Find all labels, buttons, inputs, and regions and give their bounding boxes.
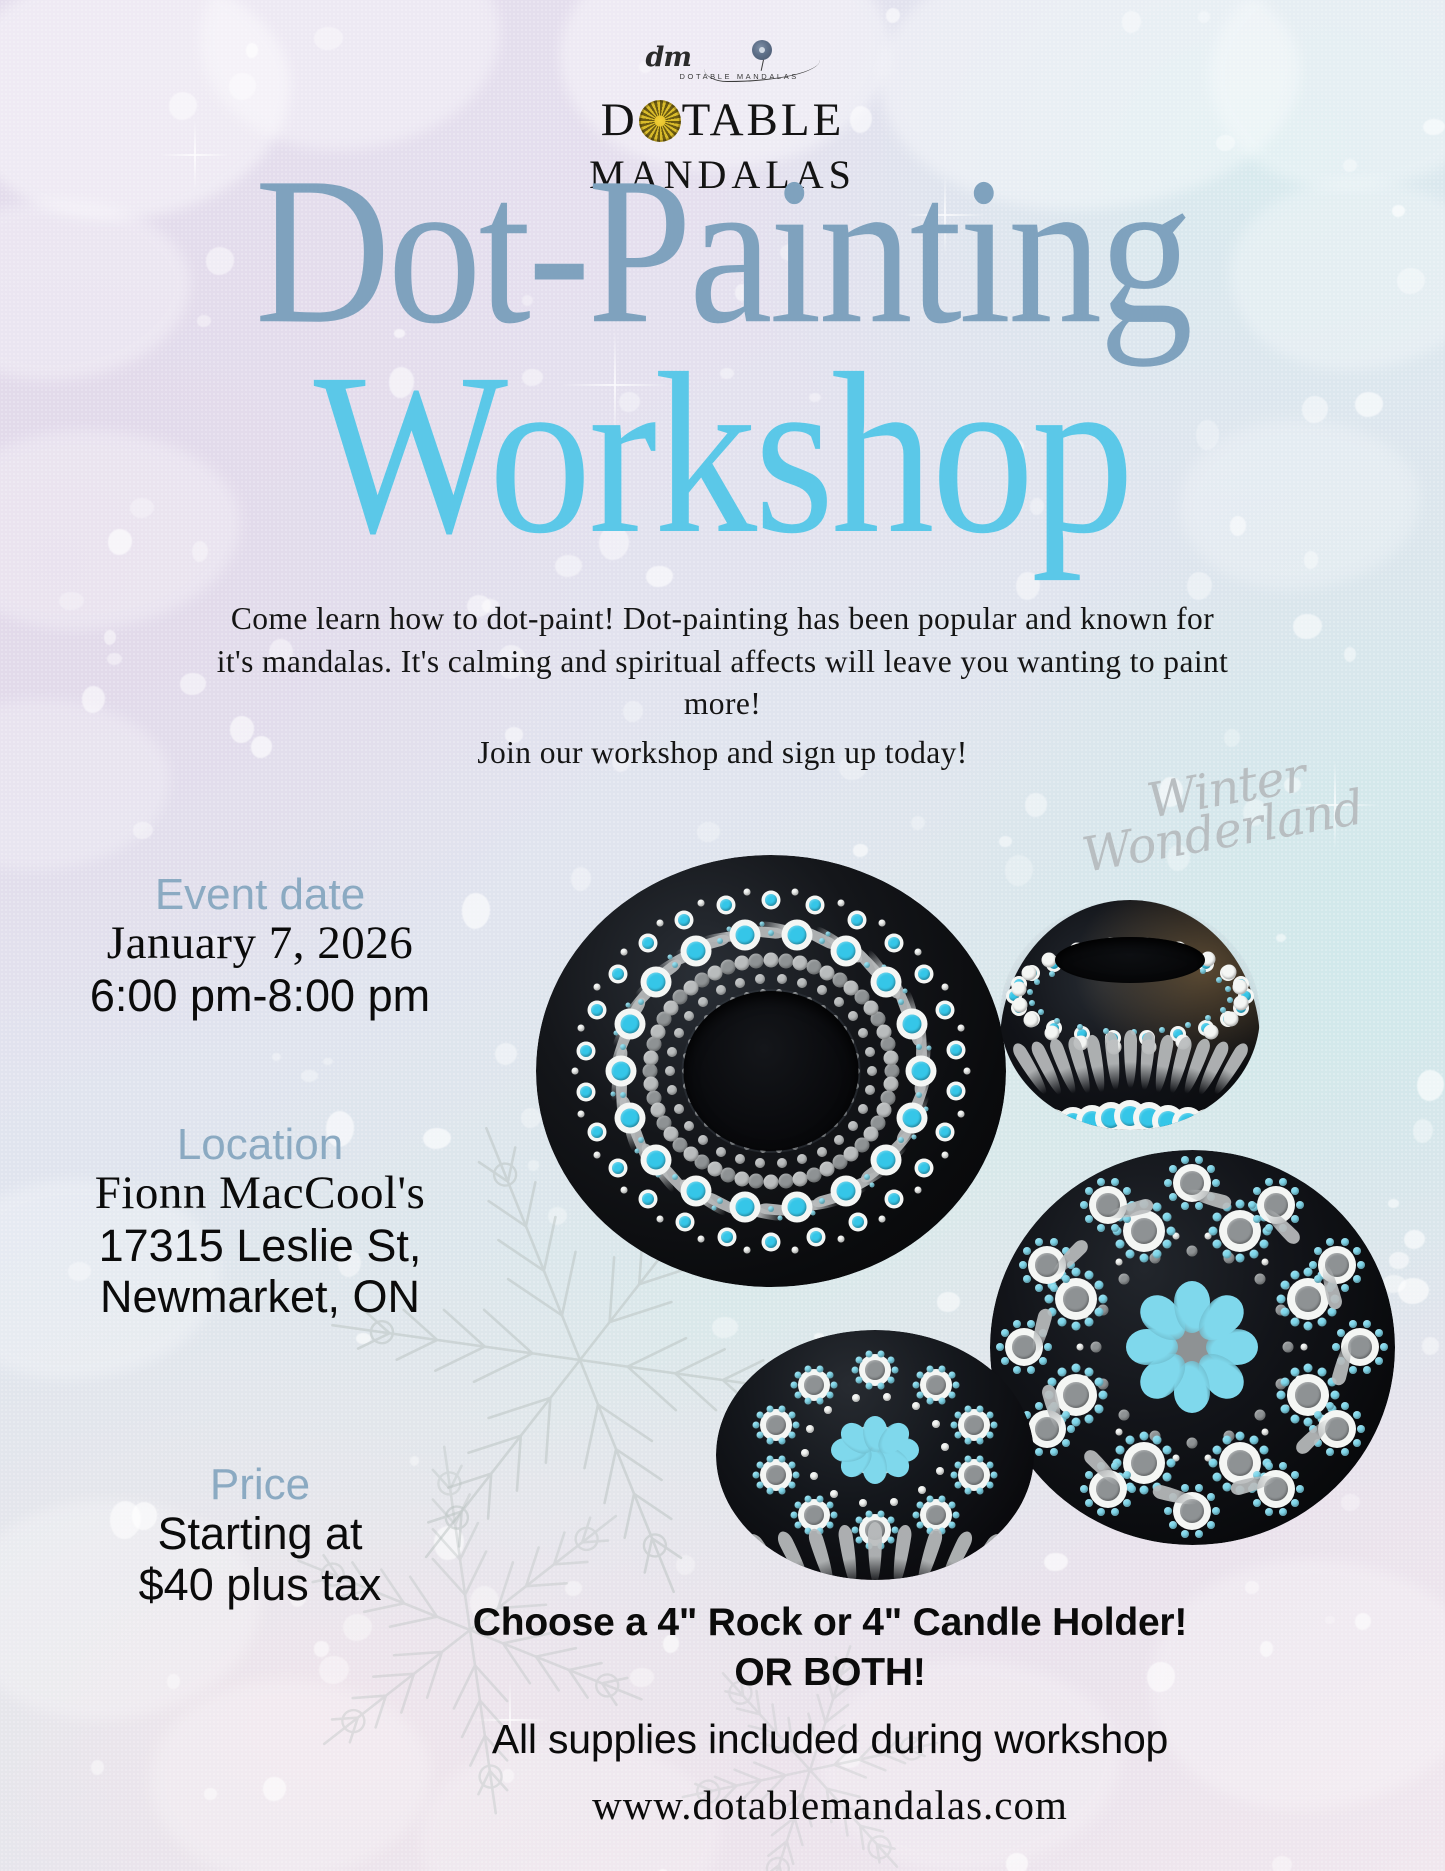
- paint-dot: [1304, 1321, 1313, 1330]
- paint-dot: [916, 1372, 923, 1379]
- paint-dot: [810, 1231, 822, 1243]
- paint-dot: [954, 1432, 961, 1439]
- paint-dot: [817, 1495, 824, 1502]
- paint-dot: [1035, 1448, 1043, 1456]
- paint-dot: [756, 1432, 763, 1439]
- snow-fleck: [1293, 614, 1321, 640]
- paint-dot: [804, 1495, 811, 1502]
- supplies-note: All supplies included during workshop: [330, 1716, 1330, 1763]
- paint-dot: [790, 1511, 797, 1518]
- paint-dot: [926, 1495, 933, 1502]
- paint-dot: [721, 960, 736, 975]
- paint-dot: [898, 999, 904, 1005]
- paint-dot: [883, 1393, 891, 1401]
- paint-dot: [827, 1372, 834, 1379]
- paint-dot: [1166, 1226, 1175, 1235]
- paint-dot: [679, 1216, 691, 1228]
- paint-dot: [964, 1068, 971, 1075]
- paint-dot: [1029, 1000, 1035, 1006]
- paint-dot: [1063, 1113, 1083, 1130]
- snow-fleck: [697, 822, 721, 842]
- paint-dot: [819, 1198, 825, 1204]
- snow-fleck: [676, 1555, 695, 1575]
- paint-dot: [1159, 1027, 1165, 1033]
- paint-dot: [779, 1487, 786, 1494]
- paint-dot: [790, 1382, 797, 1389]
- snow-fleck: [528, 1160, 539, 1171]
- location-block: Location Fionn MacCool's 17315 Leslie St…: [0, 1122, 520, 1322]
- paint-dot: [954, 1461, 961, 1468]
- snow-fleck: [1005, 855, 1033, 886]
- paint-dot: [744, 1246, 751, 1253]
- paint-dot: [977, 1455, 984, 1462]
- paint-dot: [1353, 1275, 1361, 1283]
- paint-dot: [817, 985, 827, 995]
- paint-dot: [1139, 1486, 1148, 1495]
- paint-dot: [810, 1210, 815, 1215]
- paint-dot: [1254, 1409, 1265, 1420]
- paint-dot: [884, 1050, 899, 1065]
- paint-dot: [1163, 1240, 1172, 1249]
- snow-fleck: [91, 1760, 104, 1775]
- paint-dot: [890, 1498, 898, 1506]
- snow-fleck: [999, 836, 1012, 847]
- paint-dot: [1216, 1118, 1236, 1130]
- paint-dot: [591, 1004, 603, 1016]
- paint-dot: [797, 978, 807, 988]
- paint-dot: [1035, 1284, 1043, 1292]
- paint-dot: [1279, 1508, 1287, 1516]
- paint-dot: [1126, 1436, 1135, 1445]
- snow-fleck: [104, 630, 116, 645]
- paint-dot: [594, 1151, 601, 1158]
- paint-dot: [1253, 1499, 1261, 1507]
- price-heading: Price: [0, 1462, 520, 1508]
- paint-dot: [621, 1014, 640, 1033]
- paint-dot: [830, 1511, 837, 1518]
- logo-swoosh-icon: [704, 60, 820, 82]
- paint-dot: [964, 1406, 971, 1413]
- paint-dot: [1341, 1238, 1349, 1246]
- snow-fleck: [937, 1292, 961, 1312]
- snow-fleck: [1304, 551, 1319, 568]
- paint-dot: [1126, 1249, 1135, 1258]
- paint-dot: [1005, 1120, 1025, 1130]
- paint-dot: [950, 1422, 957, 1429]
- paint-dot: [865, 1085, 875, 1095]
- snow-fleck: [1413, 1119, 1433, 1143]
- paint-dot: [1085, 1414, 1094, 1423]
- paint-dot: [766, 1487, 773, 1494]
- paint-dot: [778, 953, 793, 968]
- paint-dot: [902, 1109, 921, 1128]
- paint-dot: [1227, 1450, 1253, 1476]
- paint-dot: [1317, 1367, 1326, 1376]
- paint-dot: [855, 1357, 862, 1364]
- paint-dot: [1236, 1432, 1245, 1441]
- paint-dot: [1153, 1249, 1162, 1258]
- paint-dot: [1043, 1115, 1063, 1130]
- paint-dot: [1139, 1253, 1148, 1262]
- paint-dot: [1085, 1187, 1093, 1195]
- paint-dot: [766, 1415, 786, 1435]
- paint-dot: [735, 1171, 750, 1186]
- paint-dot: [1116, 1240, 1125, 1249]
- paint-dot: [958, 1024, 965, 1031]
- paint-dot: [1050, 1284, 1058, 1292]
- paint-dot: [1259, 1445, 1268, 1454]
- or-both-text: OR BOTH!: [330, 1648, 1330, 1698]
- paint-dot: [1123, 1471, 1131, 1479]
- paint-dot: [916, 1501, 923, 1508]
- paint-dot: [888, 1517, 895, 1524]
- paint-dot: [950, 1471, 957, 1478]
- paint-dot: [1195, 1156, 1203, 1164]
- paint-dot: [735, 956, 750, 971]
- paint-dot: [848, 1121, 858, 1131]
- paint-dot: [764, 953, 779, 968]
- paint-dot: [1063, 1382, 1089, 1408]
- paint-dot: [1169, 1193, 1177, 1201]
- paint-dot: [768, 1206, 774, 1212]
- paint-dot: [760, 922, 765, 927]
- paint-dot: [1050, 1238, 1058, 1246]
- paint-dot: [1326, 1402, 1334, 1410]
- title-line-1: Dot-Painting: [0, 160, 1445, 341]
- venue-name: Fionn MacCool's: [0, 1168, 520, 1220]
- paint-dot: [888, 1536, 895, 1543]
- paint-dot: [766, 1455, 773, 1462]
- paint-dot: [1281, 1377, 1290, 1386]
- paint-dot: [1035, 1402, 1043, 1410]
- paint-dot: [859, 1499, 867, 1507]
- paint-dot: [1119, 1274, 1130, 1285]
- paint-dot: [1153, 1436, 1162, 1445]
- paint-dot: [789, 1412, 796, 1419]
- paint-dot: [1207, 1165, 1215, 1173]
- paint-dot: [851, 914, 863, 926]
- paint-ray: [1124, 1030, 1137, 1088]
- paint-dot: [953, 1511, 960, 1518]
- paint-dot: [792, 1171, 807, 1186]
- paint-dot: [1353, 1247, 1361, 1255]
- paint-ray: [868, 1522, 882, 1580]
- paint-dot: [939, 1004, 951, 1016]
- offer-block: Choose a 4" Rock or 4" Candle Holder! OR…: [330, 1598, 1330, 1829]
- paint-dot: [684, 1121, 694, 1131]
- paint-dot: [964, 1415, 984, 1435]
- paint-dot: [1111, 1224, 1119, 1232]
- paint-dot: [916, 1392, 923, 1399]
- snow-fleck: [1245, 1581, 1260, 1594]
- paint-dot: [1265, 1508, 1273, 1516]
- mandala-rock-large-photo: [990, 1150, 1395, 1545]
- paint-dot: [1222, 1249, 1231, 1258]
- paint-dot: [1212, 1179, 1220, 1187]
- paint-dot: [791, 1246, 798, 1253]
- paint-dot: [749, 1174, 764, 1189]
- candle-holder-side-view-photo: [1000, 900, 1260, 1130]
- paint-dot: [923, 1106, 928, 1111]
- paint-dot: [1249, 1436, 1258, 1445]
- paint-dot: [650, 1024, 665, 1039]
- paint-dot: [1097, 1224, 1105, 1232]
- paint-dot: [793, 1422, 800, 1429]
- paint-dot: [667, 1047, 677, 1057]
- paint-dot: [716, 985, 726, 995]
- paint-dot: [1291, 1471, 1299, 1479]
- paint-dot: [1380, 1343, 1388, 1351]
- paint-dot: [990, 1422, 997, 1429]
- paint-dot: [830, 1382, 837, 1389]
- paint-dot: [721, 1231, 733, 1243]
- paint-dot: [611, 1092, 616, 1097]
- paint-dot: [720, 899, 732, 911]
- paint-dot: [789, 1432, 796, 1439]
- paint-dot: [902, 988, 907, 993]
- snow-fleck: [263, 1777, 285, 1801]
- paint-dot: [855, 1536, 862, 1543]
- paint-dot: [1163, 1472, 1172, 1481]
- paint-dot: [1357, 1425, 1365, 1433]
- paint-dot: [954, 1412, 961, 1419]
- paint-dot: [1314, 1247, 1322, 1255]
- paint-dot: [753, 1471, 760, 1478]
- paint-dot: [707, 1162, 722, 1177]
- paint-dot: [817, 1366, 824, 1373]
- snow-fleck: [59, 592, 84, 611]
- paint-dot: [1181, 1202, 1189, 1210]
- paint-dot: [987, 1481, 994, 1488]
- paint-dot: [1212, 1213, 1221, 1222]
- title-line-2: Workshop: [0, 354, 1445, 552]
- paint-dot: [902, 1014, 921, 1033]
- paint-dot: [1024, 1118, 1044, 1130]
- snow-fleck: [1198, 11, 1211, 23]
- paint-dot: [1077, 1344, 1084, 1351]
- paint-dot: [707, 965, 722, 980]
- snow-fleck: [1417, 1070, 1444, 1101]
- paint-dot: [667, 1085, 677, 1095]
- paint-dot: [881, 964, 886, 969]
- paint-dot: [1035, 1238, 1043, 1246]
- paint-dot: [879, 1216, 886, 1223]
- snow-fleck: [886, 8, 900, 23]
- paint-dot: [687, 1181, 706, 1200]
- paint-dot: [837, 1181, 856, 1200]
- paint-dot: [1296, 1485, 1304, 1493]
- paint-dot: [735, 926, 754, 945]
- paint-dot: [1039, 1357, 1047, 1365]
- paint-dot: [950, 1085, 962, 1097]
- paint-dot: [621, 1187, 628, 1194]
- paint-dot: [664, 1000, 679, 1015]
- paint-dot: [1119, 1409, 1130, 1420]
- snow-fleck: [323, 1058, 333, 1065]
- paint-dot: [1131, 1218, 1157, 1244]
- paint-dot: [809, 899, 821, 911]
- paint-dot: [1331, 1391, 1340, 1400]
- paint-dot: [1187, 1438, 1198, 1449]
- paint-dot: [756, 1461, 763, 1468]
- paint-dot: [1139, 1108, 1159, 1128]
- paint-dot: [1163, 1213, 1172, 1222]
- paint-dot: [735, 1154, 745, 1164]
- paint-dot: [1094, 1308, 1103, 1317]
- snow-fleck: [301, 1070, 318, 1082]
- paint-dot: [756, 1481, 763, 1488]
- paint-dot: [1085, 1215, 1093, 1223]
- paint-dot: [827, 1521, 834, 1528]
- paint-dot: [1212, 1507, 1220, 1515]
- paint-dot: [698, 997, 708, 1007]
- paint-dot: [1115, 1259, 1122, 1266]
- paint-dot: [789, 1481, 796, 1488]
- paint-dot: [1085, 1471, 1093, 1479]
- paint-dot: [926, 1045, 931, 1050]
- paint-dot: [1094, 1377, 1103, 1386]
- paint-dot: [1341, 1402, 1349, 1410]
- paint-dot: [1212, 1445, 1221, 1454]
- paint-dot: [1212, 1240, 1221, 1249]
- paint-dot: [620, 1092, 626, 1098]
- paint-dot: [1164, 1507, 1172, 1515]
- paint-dot: [841, 1199, 846, 1204]
- paint-dot: [1341, 1448, 1349, 1456]
- paint-dot: [1203, 1025, 1218, 1040]
- snow-fleck: [1187, 572, 1213, 600]
- paint-dot: [1187, 1246, 1198, 1257]
- paint-dot: [1080, 1485, 1088, 1493]
- snow-fleck: [1404, 1230, 1425, 1249]
- paint-dot: [1375, 1329, 1383, 1337]
- paint-dot: [1200, 968, 1206, 974]
- paint-dot: [1094, 1404, 1103, 1413]
- paint-dot: [844, 1147, 859, 1162]
- paint-dot: [642, 937, 654, 949]
- paint-dot: [949, 1501, 956, 1508]
- paint-dot: [778, 1174, 793, 1189]
- snow-fleck: [565, 1581, 582, 1597]
- paint-dot: [635, 1149, 640, 1154]
- paint-dot: [939, 1126, 951, 1138]
- paint-dot: [869, 1183, 874, 1188]
- snow-fleck: [356, 1333, 371, 1344]
- paint-dot: [914, 948, 921, 955]
- snow-fleck: [495, 1043, 518, 1065]
- paint-dot: [1169, 1165, 1177, 1173]
- choose-option-text: Choose a 4" Rock or 4" Candle Holder!: [330, 1598, 1330, 1648]
- paint-dot: [964, 1465, 984, 1485]
- paint-dot: [926, 1375, 946, 1395]
- paint-dot: [878, 1350, 885, 1357]
- paint-dot: [1044, 1343, 1052, 1351]
- paint-dot: [876, 973, 895, 992]
- paint-dot: [879, 919, 886, 926]
- snow-fleck: [1398, 1278, 1428, 1304]
- paint-dot: [793, 1471, 800, 1478]
- paint-dot: [932, 1420, 940, 1428]
- paint-dot: [1058, 1367, 1067, 1376]
- paint-dot: [788, 926, 807, 945]
- paint-dot: [755, 1158, 765, 1168]
- paint-dot: [664, 1127, 679, 1142]
- paint-dot: [572, 1068, 579, 1075]
- paint-dot: [916, 1044, 922, 1050]
- paint-dot: [1259, 1240, 1268, 1249]
- paint-dot: [1326, 1448, 1334, 1456]
- paint-dot: [941, 1443, 949, 1451]
- paint-dot: [964, 1455, 971, 1462]
- paint-dot: [888, 1357, 895, 1364]
- paint-dot: [864, 1174, 870, 1180]
- paint-dot: [642, 1193, 654, 1205]
- paint-dot: [647, 973, 666, 992]
- paint-dot: [1290, 1367, 1299, 1376]
- paint-dot: [612, 1062, 631, 1081]
- paint-dot: [941, 984, 948, 991]
- paint-dot: [1058, 1318, 1067, 1327]
- paint-dot: [1123, 1499, 1131, 1507]
- paint-dot: [1063, 1286, 1089, 1312]
- paint-dot: [1277, 1391, 1286, 1400]
- paint-dot: [797, 1154, 807, 1164]
- paint-dot: [865, 1360, 885, 1380]
- paint-dot: [735, 1197, 754, 1216]
- paint-dot: [824, 1406, 832, 1414]
- paint-dot: [1283, 1342, 1294, 1353]
- paint-dot: [954, 1481, 961, 1488]
- paint-dot: [626, 1002, 631, 1007]
- paint-dot: [1094, 1281, 1103, 1290]
- intro-text: Come learn how to dot-paint! Dot-paintin…: [217, 601, 1229, 721]
- event-date-heading: Event date: [0, 872, 520, 918]
- paint-dot: [638, 1137, 644, 1143]
- paint-dot: [717, 938, 723, 944]
- paint-dot: [844, 980, 859, 995]
- paint-dot: [1221, 964, 1236, 979]
- paint-dot: [1295, 1286, 1321, 1312]
- paint-dot: [1216, 977, 1222, 983]
- paint-dot: [1296, 1201, 1304, 1209]
- paint-dot: [1023, 1275, 1031, 1283]
- paint-dot: [913, 1511, 920, 1518]
- paint-dot: [1209, 1226, 1218, 1235]
- paint-dot: [953, 1382, 960, 1389]
- paint-dot: [612, 1162, 624, 1174]
- paint-dot: [1233, 996, 1248, 1011]
- paint-dot: [1158, 1111, 1178, 1130]
- paint-dot: [1111, 1178, 1119, 1186]
- event-time-value: 6:00 pm-8:00 pm: [0, 970, 520, 1021]
- paint-dot: [794, 1521, 801, 1528]
- paint-dot: [698, 899, 705, 906]
- paint-dot: [768, 930, 774, 936]
- paint-dot: [1326, 1238, 1334, 1246]
- paint-dot: [1375, 1357, 1383, 1365]
- paint-dot: [1301, 1344, 1308, 1351]
- paint-dot: [674, 1104, 684, 1114]
- event-date-value: January 7, 2026: [0, 918, 520, 970]
- paint-dot: [792, 956, 807, 971]
- paint-dot: [1236, 1199, 1245, 1208]
- paint-dot: [804, 1505, 824, 1525]
- paint-dot: [825, 931, 830, 936]
- paint-dot: [1207, 1493, 1215, 1501]
- snow-fleck: [314, 1641, 330, 1656]
- paint-dot: [918, 1486, 926, 1494]
- candle-opening: [1055, 937, 1205, 983]
